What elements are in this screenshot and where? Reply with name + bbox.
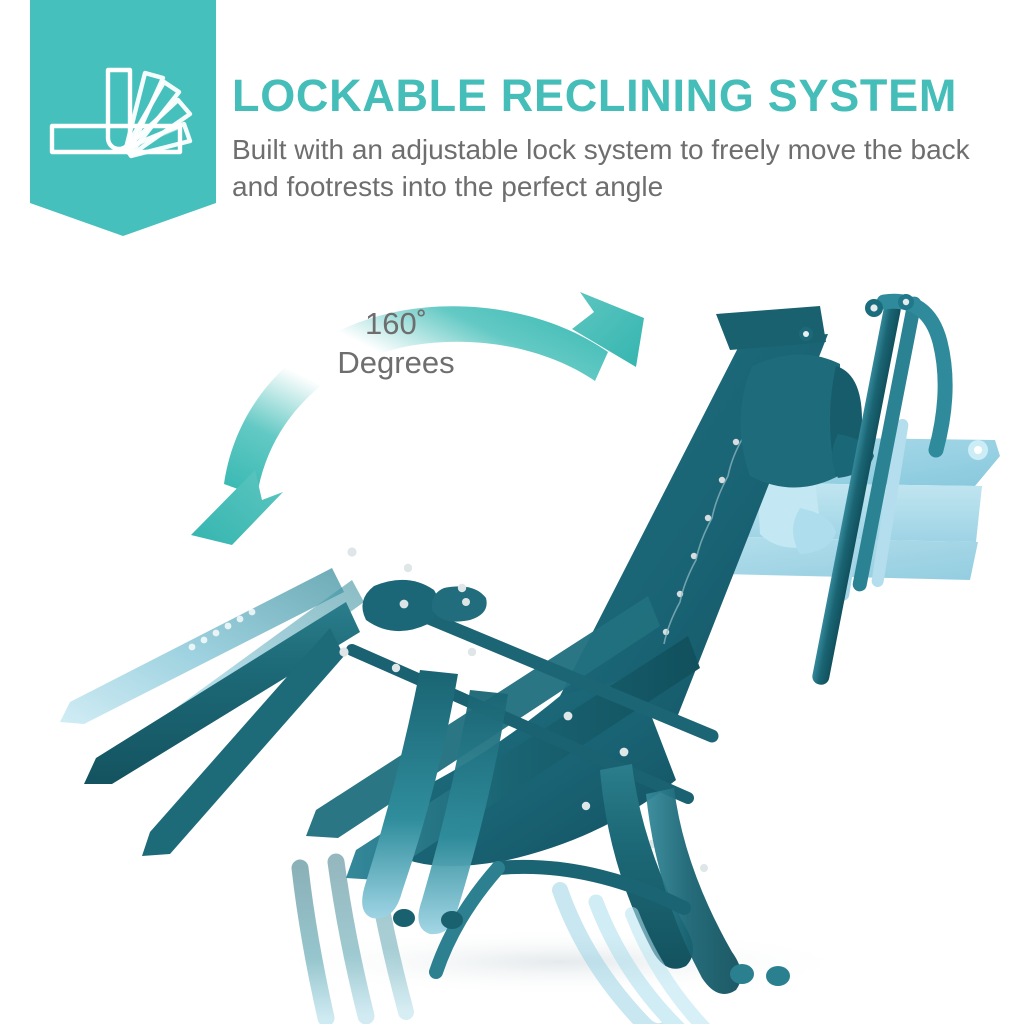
back-pivot-bolt-3 [803,331,809,337]
foot-cap-3 [730,964,754,984]
foot-cap-2 [441,911,463,929]
product-photo-reclining-chair [0,250,1024,1024]
back-pivot-bolt-2 [903,299,909,305]
reclining-back-fan-icon [30,0,216,210]
foot-cap-4 [766,966,790,986]
page-subtitle: Built with an adjustable lock system to … [232,132,1014,206]
ghost-pivot-dot [974,446,982,454]
lock-bolt [400,600,409,609]
feature-badge-banner [30,0,216,236]
header-text-block: LOCKABLE RECLINING SYSTEM Built with an … [232,72,1014,206]
page-title: LOCKABLE RECLINING SYSTEM [232,72,1014,120]
marketing-image-canvas: LOCKABLE RECLINING SYSTEM Built with an … [0,0,1024,1024]
foot-cap-1 [393,909,415,927]
headrest-pillow [740,354,842,487]
lock-latch-block [432,586,487,621]
lock-bolt-2 [462,598,470,606]
back-pivot-bolt [870,304,877,311]
